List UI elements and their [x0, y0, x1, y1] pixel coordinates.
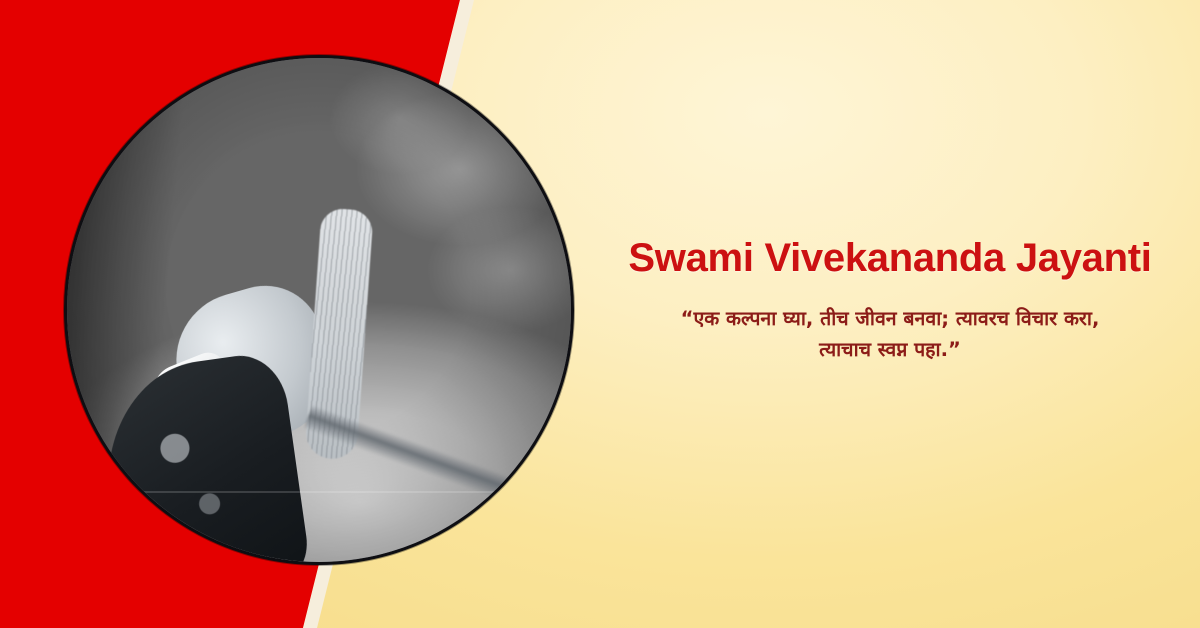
quote-text: “एक कल्पना घ्या, तीच जीवन बनवा; त्यावरच … — [600, 303, 1180, 366]
page-title: Swami Vivekananda Jayanti — [600, 236, 1180, 281]
text-block: Swami Vivekananda Jayanti “एक कल्पना घ्य… — [600, 236, 1180, 366]
portrait-scan-seam — [67, 491, 571, 493]
poster-canvas: Swami Vivekananda Jayanti “एक कल्पना घ्य… — [0, 0, 1200, 628]
portrait-circle — [64, 55, 574, 565]
